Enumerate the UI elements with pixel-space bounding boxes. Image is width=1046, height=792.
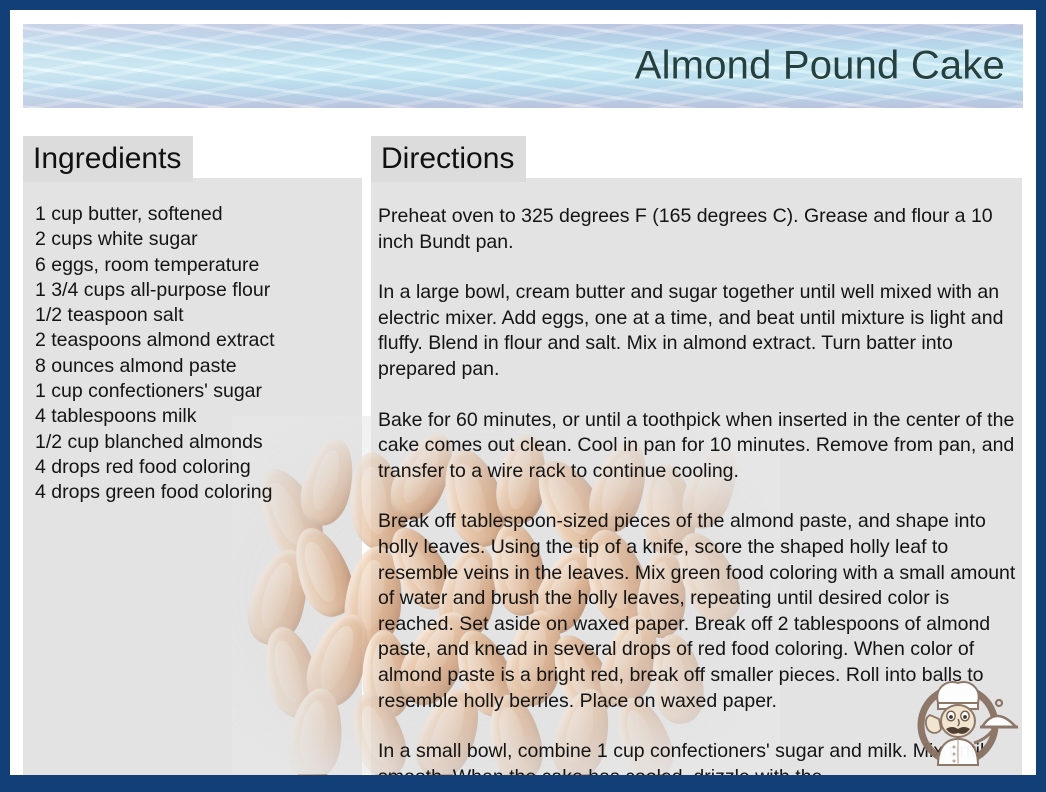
list-item: 1 cup butter, softened (35, 202, 345, 227)
ingredients-heading: Ingredients (23, 136, 193, 182)
direction-step: Preheat oven to 325 degrees F (165 degre… (378, 204, 1026, 255)
list-item: 2 teaspoons almond extract (35, 328, 345, 353)
list-item: 1/2 cup blanched almonds (35, 430, 345, 455)
directions-body: Preheat oven to 325 degrees F (165 degre… (378, 204, 1026, 775)
list-item: 1 3/4 cups all-purpose flour (35, 278, 345, 303)
direction-step: Break off tablespoon-sized pieces of the… (378, 509, 1026, 714)
slide-frame: Almond Pound Cake (0, 0, 1046, 792)
slide-canvas: Almond Pound Cake (10, 10, 1036, 775)
directions-heading: Directions (371, 136, 526, 182)
list-item: 1 cup confectioners' sugar (35, 379, 345, 404)
ingredients-list: 1 cup butter, softened 2 cups white suga… (35, 202, 345, 506)
page-title: Almond Pound Cake (635, 44, 1005, 89)
direction-step: In a large bowl, cream butter and sugar … (378, 280, 1026, 382)
list-item: 4 drops green food coloring (35, 480, 345, 505)
direction-step: In a small bowl, combine 1 cup confectio… (378, 739, 1026, 775)
list-item: 8 ounces almond paste (35, 354, 345, 379)
list-item: 2 cups white sugar (35, 227, 345, 252)
list-item: 4 drops red food coloring (35, 455, 345, 480)
list-item: 1/2 teaspoon salt (35, 303, 345, 328)
direction-step: Bake for 60 minutes, or until a toothpic… (378, 408, 1026, 485)
title-banner: Almond Pound Cake (23, 24, 1023, 108)
list-item: 4 tablespoons milk (35, 404, 345, 429)
list-item: 6 eggs, room temperature (35, 253, 345, 278)
